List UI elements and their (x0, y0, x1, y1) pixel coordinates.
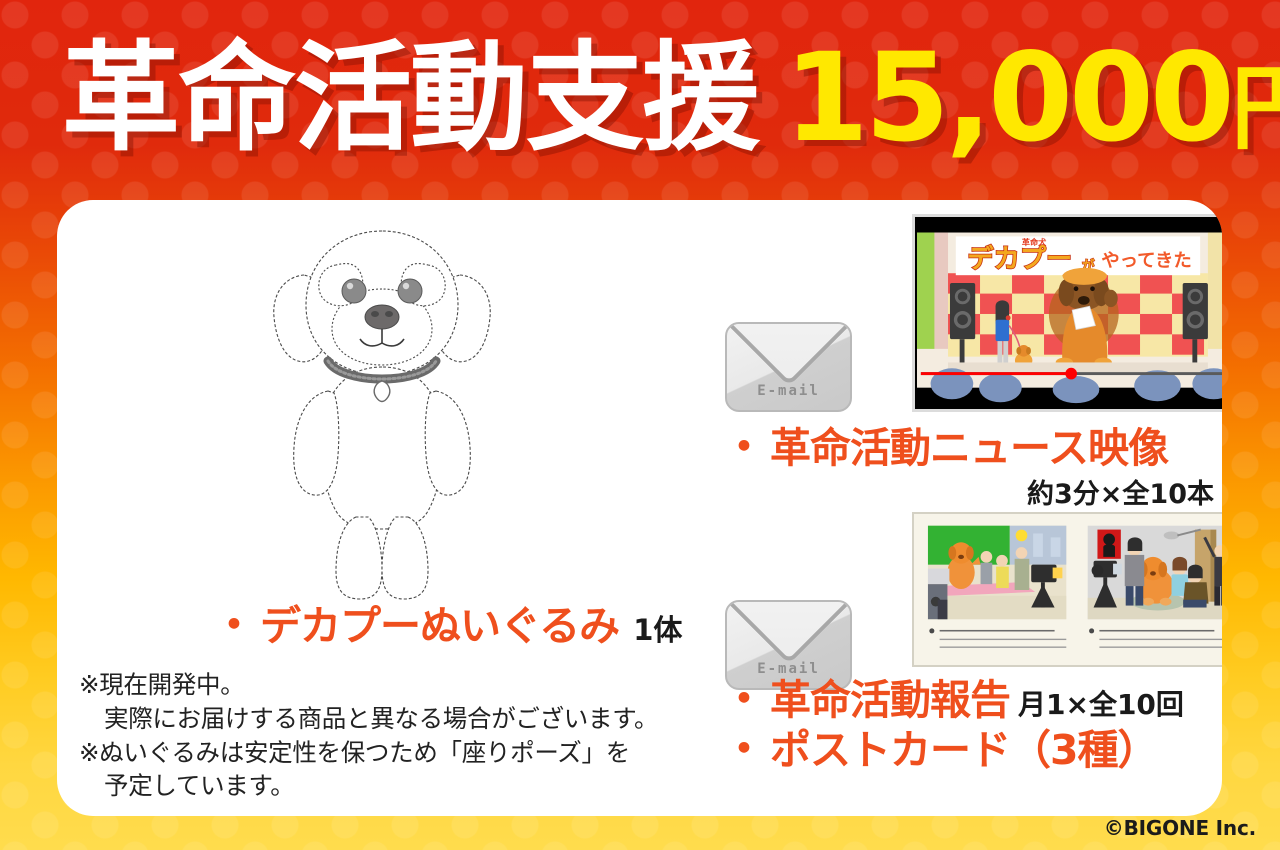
poster-root: 革命活動支援 15,000円 (0, 0, 1280, 850)
bullet-icon: ・ (722, 678, 766, 722)
envelope-flap (725, 600, 852, 664)
reward-item-news-quantity: 約3分×全10本 (1027, 472, 1214, 511)
bullet-icon: ・ (212, 604, 256, 648)
price-amount: 15,000円 (784, 37, 1280, 159)
note-line-1: ※現在開発中。 (79, 668, 709, 702)
bullet-icon: ・ (722, 728, 766, 772)
price-number: 15,000 (784, 27, 1231, 169)
reward-item-plush: ・ デカプーぬいぐるみ 1体 (212, 604, 682, 648)
reward-item-report-title: 革命活動報告 (770, 680, 1010, 721)
product-notes: ※現在開発中。 実際にお届けする商品と異なる場合がございます。 ※ぬいぐるみは安… (79, 668, 709, 803)
plush-dog-illustration (232, 205, 532, 605)
note-line-4: 予定しています。 (79, 769, 709, 803)
reward-item-news-title: 革命活動ニュース映像 (770, 428, 1168, 469)
note-line-3: ※ぬいぐるみは安定性を保つため「座りポーズ」を (79, 736, 709, 770)
reward-item-plush-quantity: 1体 (633, 616, 682, 645)
price-currency-unit: 円 (1231, 55, 1280, 162)
news-video-thumbnail[interactable]: 革命犬 デカプー が やってきた (912, 214, 1222, 412)
left-column: ・ デカプーぬいぐるみ 1体 ※現在開発中。 実際にお届けする商品と異なる場合が… (57, 200, 717, 816)
reward-item-plush-title: デカプーぬいぐるみ (260, 606, 619, 647)
header-banner: 革命活動支援 15,000円 (0, 0, 1280, 196)
svg-text:デカプー: デカプー (967, 243, 1072, 274)
reward-item-postcard-title: ポストカード（3種） (770, 730, 1158, 771)
reward-item-postcard: ・ ポストカード（3種） (722, 728, 1158, 772)
envelope-flap (725, 322, 852, 386)
reward-card: ・ デカプーぬいぐるみ 1体 ※現在開発中。 実際にお届けする商品と異なる場合が… (57, 200, 1222, 816)
note-line-2: 実際にお届けする商品と異なる場合がございます。 (79, 702, 709, 736)
reward-item-news-video: ・ 革命活動ニュース映像 (722, 426, 1168, 470)
copyright-notice: ©BIGONE Inc. (1104, 816, 1256, 840)
page-title: 革命活動支援 (62, 39, 758, 157)
email-envelope-icon-1: E-mail (725, 322, 852, 412)
envelope-label-1: E-mail (725, 383, 852, 399)
reward-item-report-quantity: 月1×全10回 (1018, 691, 1184, 719)
svg-text:やってきた: やってきた (1101, 250, 1192, 271)
reward-item-activity-report: ・ 革命活動報告 月1×全10回 (722, 678, 1184, 722)
activity-report-preview[interactable] (912, 512, 1222, 667)
bullet-icon: ・ (722, 426, 766, 470)
right-column: E-mail (717, 200, 1222, 816)
